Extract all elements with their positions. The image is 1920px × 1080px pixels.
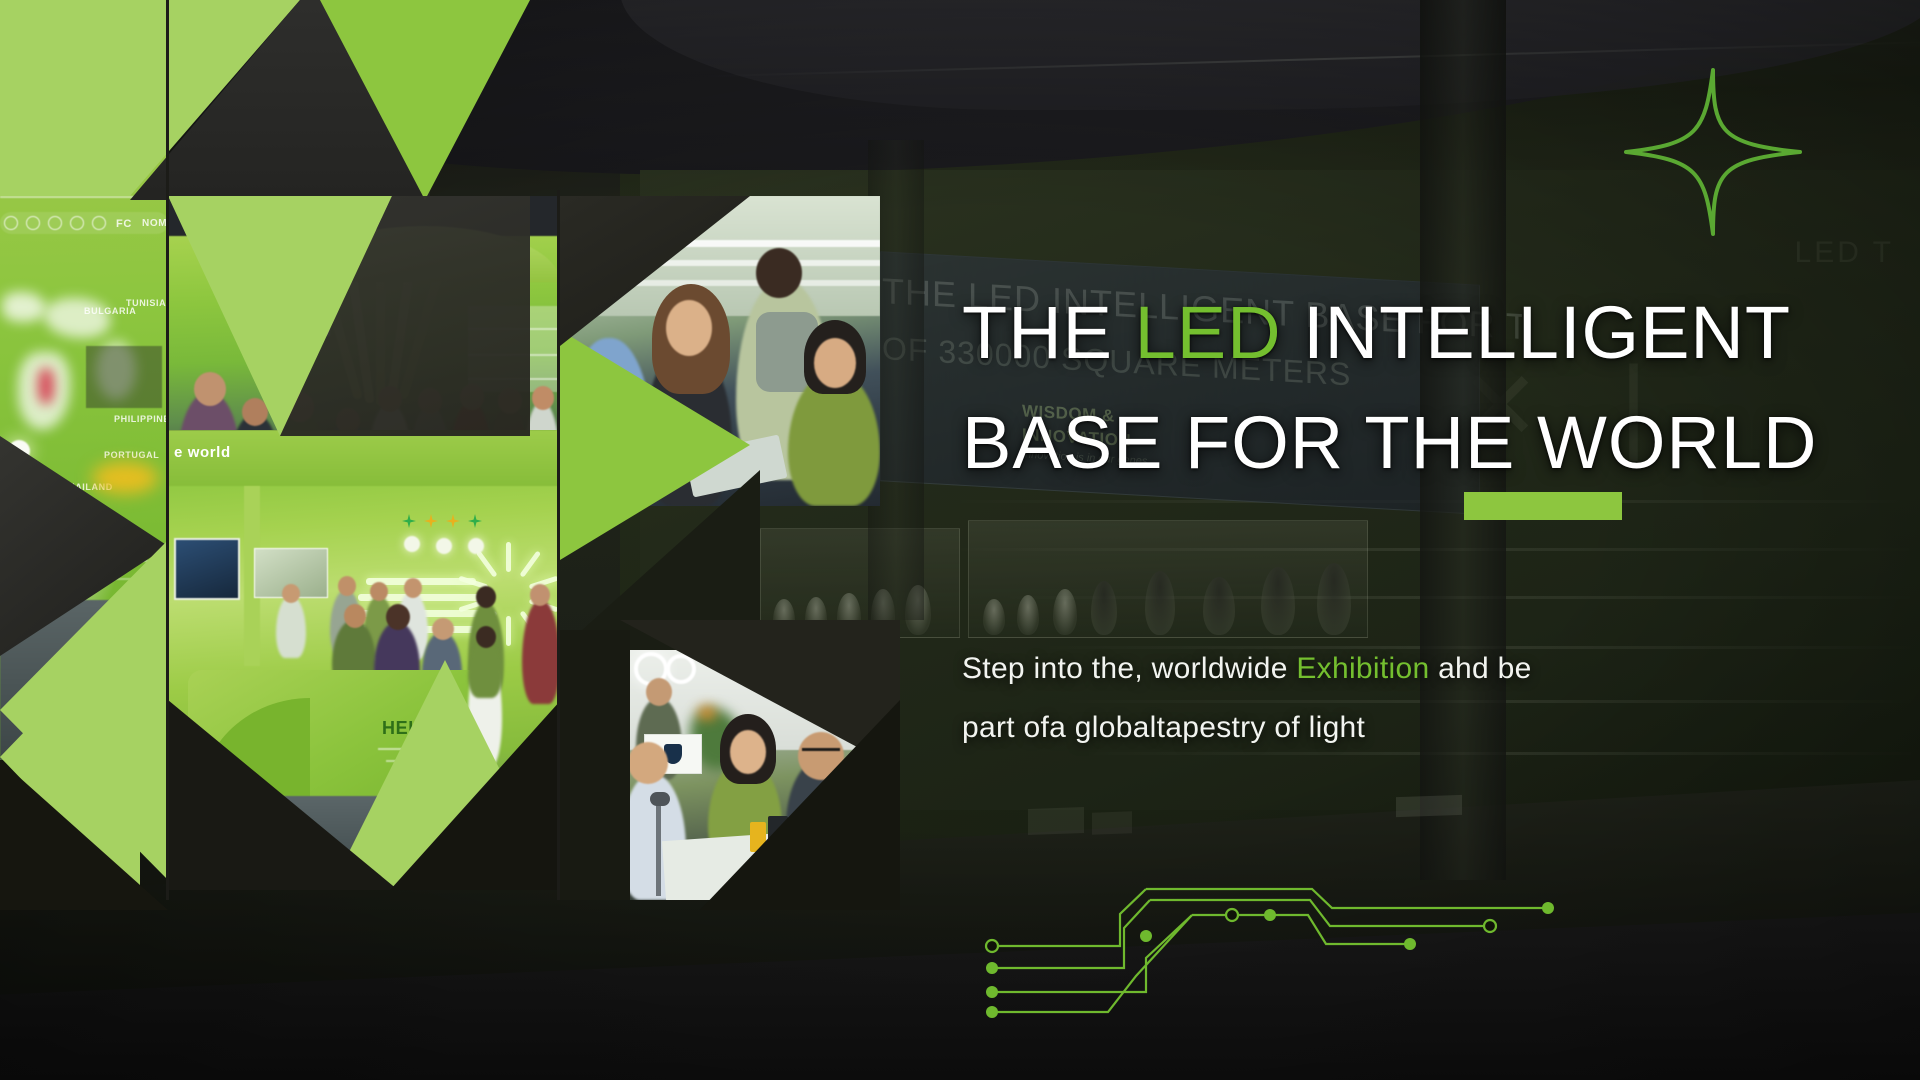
subtitle-line-2: part ofa globaltapestry of light bbox=[962, 699, 1842, 758]
photo-cert-badge bbox=[4, 216, 18, 230]
photo-product-shelf bbox=[86, 346, 162, 408]
photo-map-continent bbox=[2, 292, 46, 322]
photo-person-head bbox=[628, 742, 668, 784]
photo-person-head bbox=[646, 678, 672, 706]
photo-country-label: PORTUGAL bbox=[104, 450, 159, 460]
hero-headline: THE LED INTELLIGENT BASE FOR THE WORLD bbox=[962, 278, 1862, 497]
mosaic-separator bbox=[557, 190, 560, 900]
photo-person-head bbox=[370, 582, 388, 601]
floor-crate bbox=[1028, 807, 1084, 835]
photo-cert-badge bbox=[26, 216, 40, 230]
photo-person-face bbox=[666, 300, 712, 356]
mosaic-separator bbox=[166, 0, 169, 900]
photo-mosaic: FC NOM BULGARIA TUNISIA PHILIPPINES PORT… bbox=[0, 0, 760, 900]
bulb-display-case-right bbox=[968, 520, 1368, 638]
hero-banner: ✕ | LED T THE LED INTELLIGENT BASE FOR T… bbox=[0, 0, 1920, 1080]
photo-person-head bbox=[756, 248, 802, 298]
photo-person-head bbox=[532, 386, 554, 410]
headline-line-2: BASE FOR THE WORLD bbox=[962, 388, 1862, 498]
photo-glasses bbox=[802, 748, 840, 751]
subtitle-text-post: ahd be bbox=[1429, 652, 1531, 685]
photo-pendant-lamp bbox=[404, 536, 420, 552]
bulb bbox=[1053, 589, 1077, 635]
photo-person-head bbox=[338, 576, 356, 596]
headline-line-1: THE LED INTELLIGENT bbox=[962, 278, 1862, 388]
photo-person-head bbox=[404, 578, 422, 598]
photo-person-head bbox=[476, 586, 496, 608]
headline-text-pre: THE bbox=[962, 291, 1135, 374]
bulb bbox=[1261, 567, 1295, 635]
photo-person-face bbox=[814, 338, 856, 388]
photo-plant-flower bbox=[698, 706, 716, 720]
photo-booth-sign-text: e world bbox=[174, 444, 231, 461]
photo-mic-stand bbox=[656, 800, 661, 896]
photo-pendant-lamp bbox=[436, 538, 452, 554]
bulb bbox=[1145, 571, 1175, 635]
bulb bbox=[983, 599, 1005, 635]
photo-person-head bbox=[194, 372, 226, 406]
photo-person-head bbox=[344, 604, 366, 628]
photo-person-head bbox=[242, 398, 268, 426]
hero-subtitle: Step into the, worldwide Exhibition ahd … bbox=[962, 640, 1842, 757]
photo-cert-badge bbox=[48, 216, 62, 230]
subtitle-line-1: Step into the, worldwide Exhibition ahd … bbox=[962, 640, 1842, 699]
bulb bbox=[1203, 577, 1235, 635]
photo-cert-badge bbox=[70, 216, 84, 230]
photo-person-head bbox=[432, 618, 454, 640]
photo-cert-badge bbox=[92, 216, 106, 230]
photo-cert-label: NOM bbox=[142, 218, 167, 229]
photo-person-top bbox=[468, 642, 502, 698]
subtitle-text-pre: Step into the, worldwide bbox=[962, 652, 1296, 685]
floor-crate bbox=[1092, 811, 1132, 834]
photo-country-label: TUNISIA bbox=[126, 298, 166, 308]
photo-cert-label: FC bbox=[116, 218, 132, 230]
photo-monitor bbox=[174, 538, 240, 600]
sparkle-icon bbox=[1618, 62, 1808, 242]
photo-person-head bbox=[476, 626, 496, 648]
photo-ring-light bbox=[666, 654, 696, 684]
photo-person-head bbox=[530, 584, 550, 606]
circuit-trace-graphic bbox=[960, 880, 1560, 1025]
photo-person-face bbox=[730, 730, 766, 774]
wall-ghost-led-text: LED T bbox=[1795, 236, 1894, 270]
bulb bbox=[1091, 581, 1117, 635]
headline-accent-led: LED bbox=[1135, 291, 1282, 374]
photo-pendant-lamp bbox=[468, 538, 484, 554]
photo-mic-head bbox=[650, 792, 670, 806]
bulb bbox=[1317, 563, 1351, 635]
bulb bbox=[1017, 595, 1039, 635]
headline-text-post: INTELLIGENT bbox=[1282, 291, 1792, 374]
decor-triangle-dark bbox=[560, 630, 630, 900]
photo-person bbox=[276, 596, 306, 658]
photo-map-glow bbox=[92, 462, 158, 494]
subtitle-accent-exhibition: Exhibition bbox=[1296, 652, 1429, 685]
photo-person-head bbox=[386, 604, 410, 630]
floor-crate bbox=[1396, 795, 1462, 817]
photo-person-head bbox=[282, 584, 300, 603]
photo-map-highlight bbox=[38, 368, 54, 404]
photo-country-label: PHILIPPINES bbox=[114, 414, 168, 424]
